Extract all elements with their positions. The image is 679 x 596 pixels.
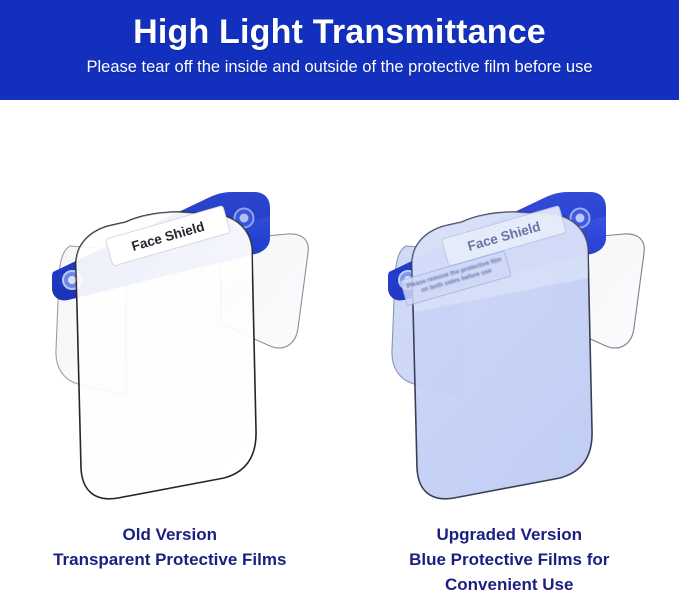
infographic-canvas: High Light Transmittance Please tear off…	[0, 0, 679, 596]
face-shield-illustration-old: Face Shield	[8, 100, 338, 500]
headband-rivet-right-center	[240, 214, 249, 223]
caption-line: Old Version	[0, 522, 340, 547]
face-shield-illustration-upgraded: Face Shield Please remove the protective…	[344, 100, 674, 500]
caption-line: Upgraded Version	[340, 522, 679, 547]
header-banner: High Light Transmittance Please tear off…	[0, 0, 679, 100]
caption-line: Transparent Protective Films	[0, 547, 340, 572]
banner-title: High Light Transmittance	[133, 12, 546, 52]
caption-old-version: Old Version Transparent Protective Films	[0, 505, 340, 596]
banner-subtitle: Please tear off the inside and outside o…	[86, 56, 592, 78]
product-captions: Old Version Transparent Protective Films…	[0, 505, 679, 596]
caption-upgraded-version: Upgraded Version Blue Protective Films f…	[340, 505, 679, 596]
headband-rivet-left-center	[68, 276, 76, 284]
caption-line: Blue Protective Films for	[340, 547, 679, 572]
caption-line: Convenient Use	[340, 572, 679, 596]
headband-rivet-right-center	[576, 214, 585, 223]
product-illustrations: Face Shield	[0, 100, 679, 500]
